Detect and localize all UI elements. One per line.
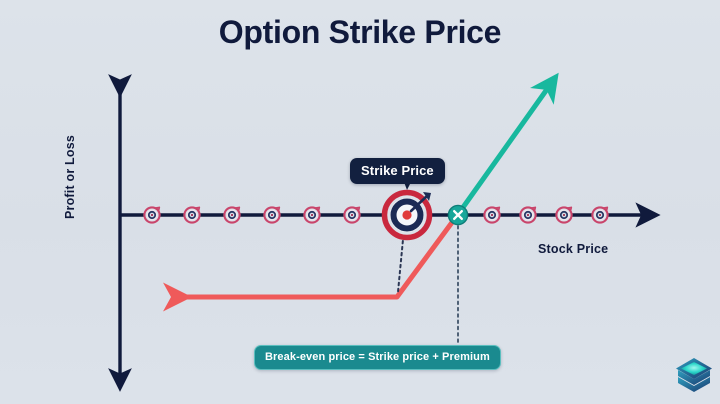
axes bbox=[120, 86, 648, 380]
y-axis-label: Profit or Loss bbox=[63, 102, 77, 252]
bullseye-target-icon bbox=[382, 190, 432, 240]
small-bullseye-icon bbox=[555, 206, 572, 223]
x-marker-icon bbox=[448, 205, 467, 224]
small-bullseye-icon bbox=[343, 206, 360, 223]
strike-price-badge: Strike Price bbox=[350, 158, 445, 184]
small-bullseye-icon bbox=[263, 206, 280, 223]
small-bullseye-icon bbox=[591, 206, 608, 223]
small-bullseye-icon bbox=[223, 206, 240, 223]
small-bullseye-icon bbox=[303, 206, 320, 223]
x-axis-label: Stock Price bbox=[538, 242, 608, 256]
small-bullseye-icon bbox=[183, 206, 200, 223]
payoff-lines bbox=[177, 85, 550, 297]
profit-line bbox=[459, 85, 550, 213]
small-bullseye-icon bbox=[483, 206, 500, 223]
small-bullseye-icon bbox=[143, 206, 160, 223]
break-even-badge: Break-even price = Strike price + Premiu… bbox=[254, 345, 501, 370]
infographic-canvas: Option Strike Price bbox=[0, 0, 720, 404]
small-bullseye-icon bbox=[519, 206, 536, 223]
layered-hexagon-logo-icon bbox=[676, 358, 712, 392]
option-payoff-chart bbox=[0, 0, 720, 404]
